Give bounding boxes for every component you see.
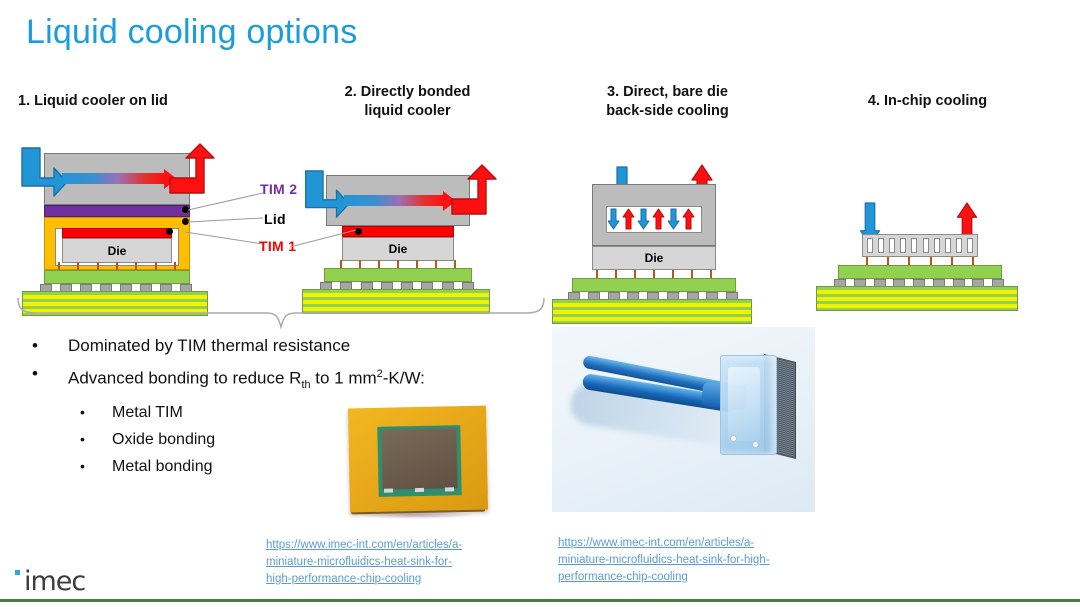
die-label: Die (62, 245, 172, 257)
bullet-item-1: Dominated by TIM thermal resistance (24, 332, 544, 360)
source-link-1-line3: high-performance-chip-cooling (266, 571, 516, 588)
microchannel-row (867, 238, 973, 253)
column-caption-2-line1: 2. Directly bonded (300, 83, 515, 102)
column-caption-3: 3. Direct, bare die back-side cooling (560, 83, 775, 121)
grouping-brace (14, 296, 548, 330)
imec-logo: imec (24, 567, 85, 597)
inlet-arrow-icon (298, 166, 350, 224)
microbump-row (340, 260, 456, 268)
microbump-row (866, 257, 974, 265)
heatsink-body-inner (728, 367, 760, 441)
microfluidic-heatsink-photo (552, 327, 815, 512)
microbump-row (58, 262, 176, 270)
tim1-layer (62, 228, 172, 238)
die-label: Die (592, 252, 716, 264)
gold-package-photo (327, 393, 507, 523)
slide-canvas: Liquid cooling options 1. Liquid cooler … (0, 0, 1080, 609)
microbump-row (596, 270, 712, 278)
callout-dot-tim1 (166, 228, 173, 235)
bullet-item-2-text-after: -K/W: (383, 369, 425, 388)
bullet-item-2-subscript: th (301, 379, 310, 391)
internal-flow-arrows (608, 208, 700, 231)
source-link-1[interactable]: https://www.imec-int.com/en/articles/a- … (266, 537, 516, 588)
mount-hole-left (730, 435, 737, 442)
column-caption-1: 1. Liquid cooler on lid (18, 92, 258, 111)
pcb-board (552, 299, 752, 324)
footer-divider (0, 599, 1080, 602)
pcb-board (816, 286, 1018, 311)
column-caption-3-line1: 3. Direct, bare die (560, 83, 775, 102)
bullet-item-2-text-mid: to 1 mm (311, 369, 377, 388)
diagram-4-in-chip-cooling (806, 160, 1056, 305)
callout-label-lid: Lid (264, 211, 286, 227)
source-link-1-line2: miniature-microfluidics-heat-sink-for- (266, 554, 516, 571)
column-caption-2: 2. Directly bonded liquid cooler (300, 83, 515, 121)
package-substrate (572, 278, 736, 292)
die-surface (381, 428, 457, 490)
mount-hole-right (752, 441, 759, 448)
source-link-2-line3: performance-chip-cooling (558, 569, 833, 586)
diagram-3-bare-die-backside-cooling: Die (548, 150, 798, 300)
bullet-item-2-text-before: Advanced bonding to reduce R (68, 369, 301, 388)
tim2-layer (44, 205, 190, 217)
callout-leader-line-diagram2 (290, 228, 360, 250)
column-caption-2-line2: liquid cooler (300, 102, 515, 121)
package-substrate (838, 265, 1002, 279)
logo-dot-icon (15, 570, 20, 575)
package-substrate (44, 270, 190, 284)
heat-flow-gradient-bar (62, 173, 165, 184)
outlet-arrow-icon (448, 162, 504, 224)
page-title: Liquid cooling options (26, 12, 357, 52)
source-link-1-line1: https://www.imec-int.com/en/articles/a- (266, 537, 516, 554)
inlet-arrow-icon (14, 144, 68, 202)
column-caption-3-line2: back-side cooling (560, 102, 775, 121)
source-link-2-line2: miniature-microfluidics-heat-sink-for-hi… (558, 552, 833, 569)
source-link-2-line1: https://www.imec-int.com/en/articles/a- (558, 535, 833, 552)
source-link-2[interactable]: https://www.imec-int.com/en/articles/a- … (558, 535, 833, 586)
heat-flow-gradient-bar (344, 195, 444, 206)
column-caption-4: 4. In-chip cooling (820, 92, 1035, 111)
logo-text: imec (24, 567, 85, 597)
package-substrate (324, 268, 472, 282)
diagram-2-directly-bonded-liquid-cooler: Die (292, 150, 542, 300)
